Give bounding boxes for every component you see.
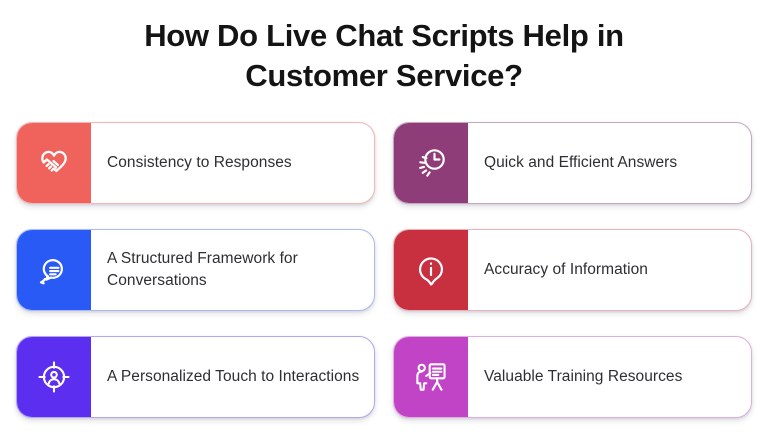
page-title-line-1: How Do Live Chat Scripts Help in xyxy=(0,16,768,56)
benefit-card-label: Consistency to Responses xyxy=(91,123,374,203)
benefit-card-label: A Structured Framework for Conversations xyxy=(91,230,374,310)
benefit-card-a-structured-framework-for-conversations[interactable]: A Structured Framework for Conversations xyxy=(16,229,375,311)
benefit-card-consistency-to-responses[interactable]: Consistency to Responses xyxy=(16,122,375,204)
benefit-card-accuracy-of-information[interactable]: Accuracy of Information xyxy=(393,229,752,311)
benefit-card-valuable-training-resources[interactable]: Valuable Training Resources xyxy=(393,336,752,418)
icon-tile xyxy=(394,230,468,310)
presentation-training-icon xyxy=(410,356,452,398)
icon-tile xyxy=(394,337,468,417)
fast-clock-icon xyxy=(410,142,452,184)
benefit-card-label: Valuable Training Resources xyxy=(468,337,751,417)
icon-tile xyxy=(17,337,91,417)
chat-bubbles-icon xyxy=(33,249,75,291)
benefit-card-grid: Consistency to Responses Quick an xyxy=(16,122,752,418)
benefit-card-label: Accuracy of Information xyxy=(468,230,751,310)
benefit-card-label: A Personalized Touch to Interactions xyxy=(91,337,374,417)
page-title-line-2: Customer Service? xyxy=(0,56,768,96)
benefit-card-a-personalized-touch-to-interactions[interactable]: A Personalized Touch to Interactions xyxy=(16,336,375,418)
benefit-card-quick-and-efficient-answers[interactable]: Quick and Efficient Answers xyxy=(393,122,752,204)
icon-tile xyxy=(17,123,91,203)
infographic-page: How Do Live Chat Scripts Help in Custome… xyxy=(0,0,768,442)
page-title: How Do Live Chat Scripts Help in Custome… xyxy=(0,0,768,96)
benefit-card-label: Quick and Efficient Answers xyxy=(468,123,751,203)
handshake-heart-icon xyxy=(33,142,75,184)
icon-tile xyxy=(394,123,468,203)
icon-tile xyxy=(17,230,91,310)
target-person-icon xyxy=(33,356,75,398)
info-pin-icon xyxy=(410,249,452,291)
